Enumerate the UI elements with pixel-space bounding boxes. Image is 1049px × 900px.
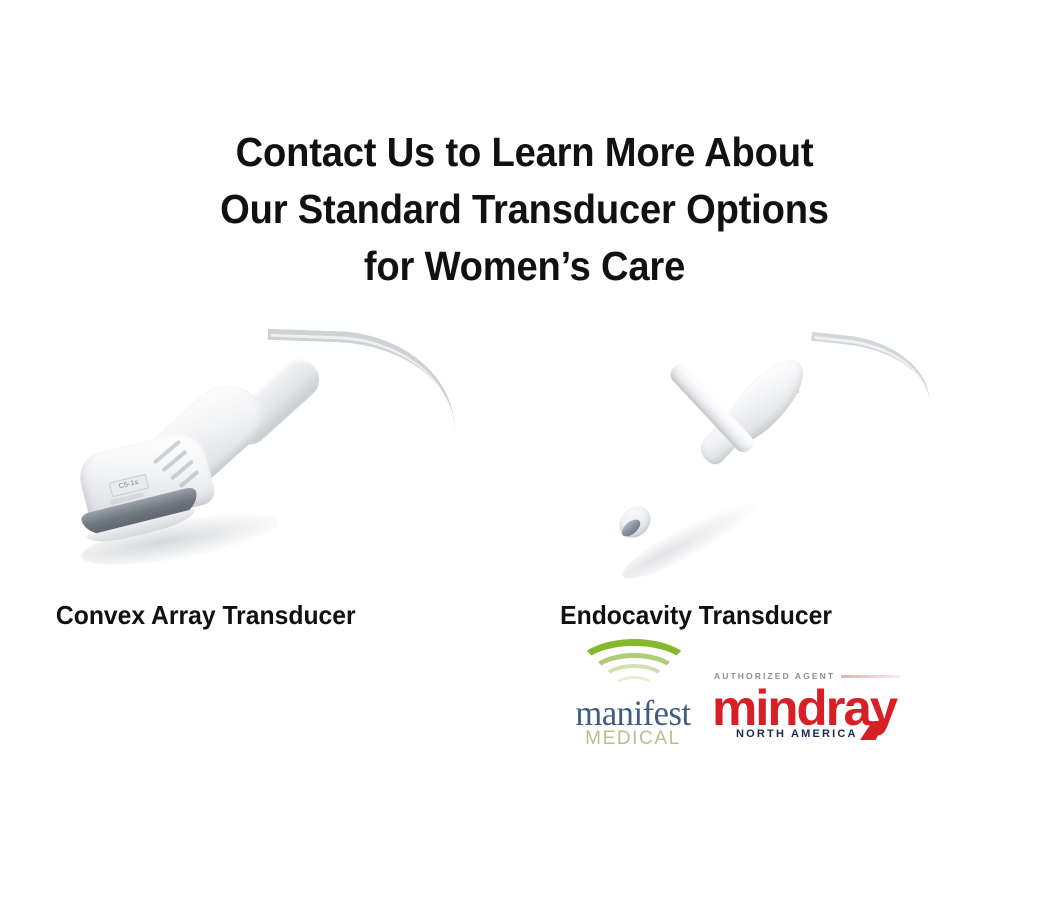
convex-transducer-illustration: C5-1s <box>70 330 450 590</box>
endocavity-transducer-caption: Endocavity Transducer <box>560 600 832 631</box>
mindray-tagline-rule <box>841 675 900 678</box>
endocavity-transducer-cable-highlight <box>808 336 934 407</box>
page-title-line-2: Our Standard Transducer Options <box>37 181 1013 238</box>
page-title: Contact Us to Learn More About Our Stand… <box>37 124 1013 295</box>
convex-array-transducer-caption: Convex Array Transducer <box>56 600 356 631</box>
mindray-logo: AUTHORIZED AGENT mindray NORTH AMERICA <box>712 670 902 756</box>
mindray-subtext: NORTH AMERICA <box>736 728 858 740</box>
product-image-row: C5-1s <box>0 330 1049 640</box>
convex-array-transducer-image: C5-1s <box>70 330 450 590</box>
signal-wave-icon <box>578 652 690 698</box>
manifest-subtext: MEDICAL <box>568 728 698 749</box>
endocavity-transducer-image <box>600 330 930 590</box>
manifest-wordmark: manifest <box>571 694 696 732</box>
logo-row: manifest MEDICAL AUTHORIZED AGENT mindra… <box>560 650 920 760</box>
manifest-medical-logo: manifest MEDICAL <box>568 652 698 758</box>
page-title-line-1: Contact Us to Learn More About <box>37 124 1013 181</box>
endocavity-transducer-illustration <box>600 330 930 590</box>
page-title-line-3: for Women’s Care <box>37 238 1013 295</box>
